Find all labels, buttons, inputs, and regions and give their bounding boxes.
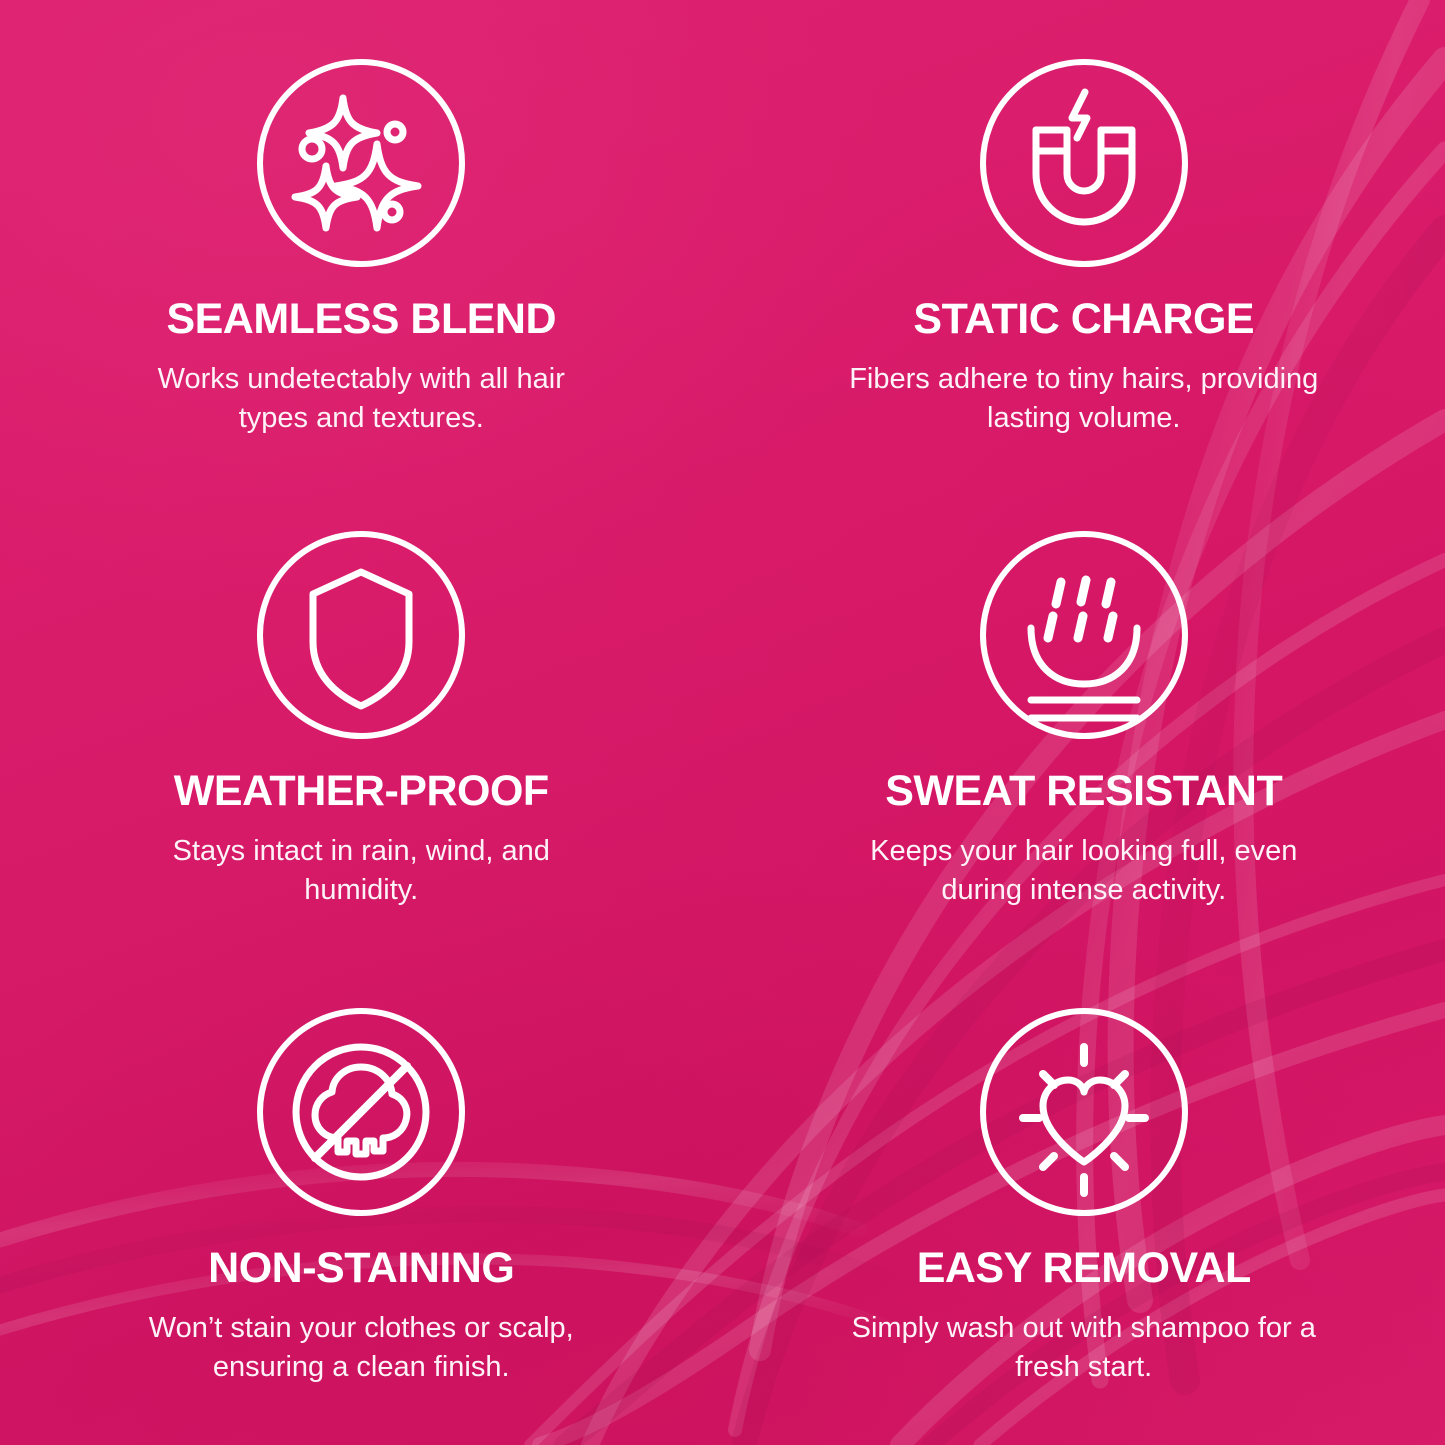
feature-title: EASY REMOVAL bbox=[917, 1247, 1251, 1290]
feature-cell-seamless-blend: SEAMLESS BLEND Works undetectably with a… bbox=[0, 0, 723, 482]
feature-cell-sweat-resistant: SWEAT RESISTANT Keeps your hair looking … bbox=[723, 482, 1445, 964]
features-grid: SEAMLESS BLEND Works undetectably with a… bbox=[0, 0, 1445, 1445]
feature-description: Works undetectably with all hair types a… bbox=[126, 360, 596, 438]
feature-cell-weather-proof: WEATHER-PROOF Stays intact in rain, wind… bbox=[0, 482, 723, 964]
feature-description: Stays intact in rain, wind, and humidity… bbox=[126, 832, 596, 910]
feature-description: Simply wash out with shampoo for a fresh… bbox=[849, 1309, 1319, 1387]
feature-title: SWEAT RESISTANT bbox=[885, 770, 1282, 813]
magnet-icon bbox=[973, 52, 1195, 274]
no-stain-icon bbox=[250, 1001, 472, 1223]
feature-title: STATIC CHARGE bbox=[913, 298, 1254, 341]
feature-cell-easy-removal: EASY REMOVAL Simply wash out with shampo… bbox=[723, 963, 1445, 1445]
feature-cell-static-charge: STATIC CHARGE Fibers adhere to tiny hair… bbox=[723, 0, 1445, 482]
sweat-droplets-icon bbox=[973, 524, 1195, 746]
feature-title: WEATHER-PROOF bbox=[174, 770, 549, 813]
feature-cell-non-staining: NON-STAINING Won’t stain your clothes or… bbox=[0, 963, 723, 1445]
feature-title: SEAMLESS BLEND bbox=[166, 298, 556, 341]
shield-icon bbox=[250, 524, 472, 746]
feature-description: Won’t stain your clothes or scalp, ensur… bbox=[126, 1309, 596, 1387]
feature-title: NON-STAINING bbox=[208, 1247, 514, 1290]
feature-description: Fibers adhere to tiny hairs, providing l… bbox=[849, 360, 1319, 438]
feature-description: Keeps your hair looking full, even durin… bbox=[849, 832, 1319, 910]
sparkles-icon bbox=[250, 52, 472, 274]
shining-heart-icon bbox=[973, 1001, 1195, 1223]
